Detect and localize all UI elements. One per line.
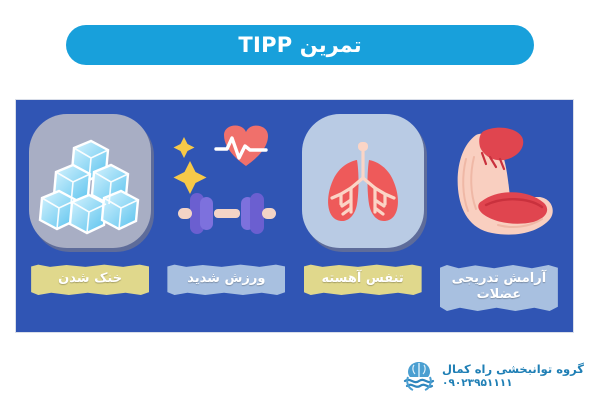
page-title-pill: تمرین TIPP (66, 25, 534, 65)
skill-label-paced-breathing: تنفس آهسته (304, 264, 422, 295)
sparkle-icon (174, 137, 207, 194)
skill-panel-cold[interactable]: خنک شدن (22, 108, 158, 332)
skill-panel-row: خنک شدن (16, 100, 573, 332)
skill-panel-paced-breathing[interactable]: تنفس آهسته (295, 108, 431, 332)
dumbbell-heart-sparkle-icon (164, 121, 288, 247)
brand-text-block: گروه توانبخشی راه کمال ۰۹۰۲۳۹۵۱۱۱۱ (442, 362, 584, 391)
brain-wave-logo-icon (402, 360, 436, 392)
skill-label-muscle-relaxation: آرامش تدریجی عضلات (440, 264, 558, 312)
skill-label-line: عضلات (450, 287, 548, 303)
ice-cubes-icon (34, 128, 146, 240)
skill-label-line: تنفس آهسته (314, 271, 412, 287)
brand-name: گروه توانبخشی راه کمال (442, 362, 584, 377)
ice-cubes-illustration (23, 108, 157, 260)
lungs-icon (307, 128, 419, 240)
page-title: تمرین TIPP (238, 33, 361, 57)
skill-label-intense-exercise: ورزش شدید (167, 264, 285, 295)
skill-label-line: آرامش تدریجی (450, 271, 548, 287)
footer-branding: گروه توانبخشی راه کمال ۰۹۰۲۳۹۵۱۱۱۱ (402, 360, 584, 392)
skill-label-line: ورزش شدید (177, 271, 275, 287)
skill-label-line: خنک شدن (41, 271, 139, 287)
brand-phone-number: ۰۹۰۲۳۹۵۱۱۱۱ (442, 377, 513, 391)
skill-panel-muscle-relaxation[interactable]: آرامش تدریجی عضلات (431, 108, 567, 332)
flexed-arm-illustration (432, 108, 566, 260)
dumbbell-icon (178, 193, 276, 234)
heart-pulse-icon (216, 126, 268, 166)
skill-label-cold: خنک شدن (31, 264, 149, 295)
lungs-illustration (296, 108, 430, 260)
flexed-arm-muscle-icon (436, 119, 562, 249)
tipp-skills-card: خنک شدن (16, 100, 573, 332)
dumbbell-heart-illustration (159, 108, 293, 260)
skill-panel-intense-exercise[interactable]: ورزش شدید (158, 108, 294, 332)
